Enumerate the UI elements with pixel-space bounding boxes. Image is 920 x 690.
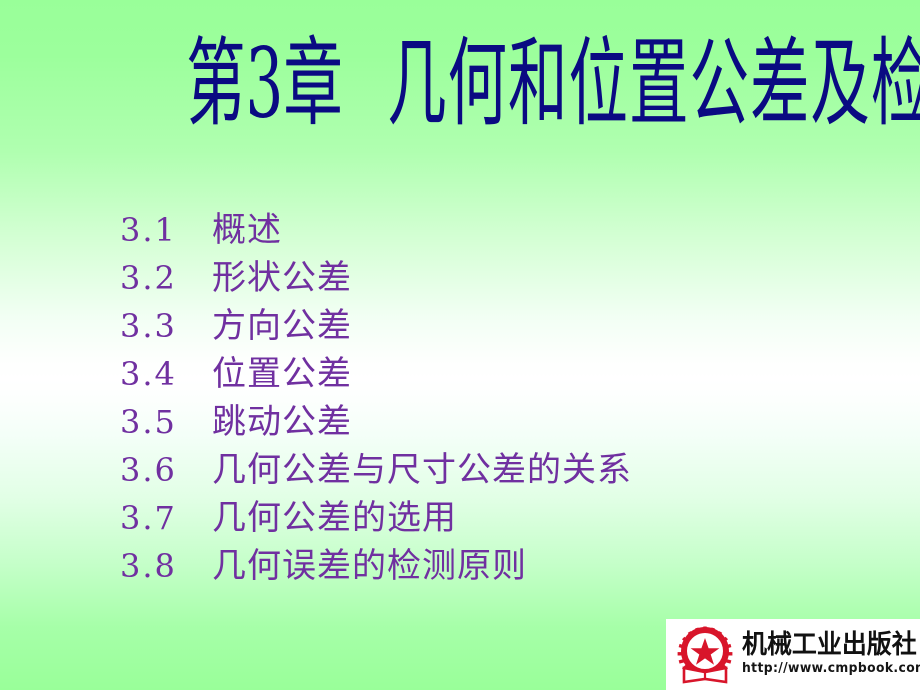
agenda-item-label: 几何误差的检测原则 <box>212 546 527 586</box>
agenda-item-number: 3.6 <box>120 446 212 494</box>
publisher-name: 机械工业出版社 <box>742 631 913 660</box>
agenda-item-number: 3.3 <box>120 302 212 350</box>
agenda-item-3-6[interactable]: 3.6几何公差与尺寸公差的关系 <box>120 446 880 494</box>
agenda-item-label: 形状公差 <box>212 258 352 298</box>
agenda-item-3-5[interactable]: 3.5跳动公差 <box>120 398 880 446</box>
agenda-item-number: 3.2 <box>120 254 212 302</box>
agenda-item-label: 几何公差与尺寸公差的关系 <box>212 450 632 490</box>
agenda-item-3-3[interactable]: 3.3方向公差 <box>120 302 880 350</box>
agenda-item-number: 3.1 <box>120 206 212 254</box>
publisher-text-block: 机械工业出版社 http://www.cmpbook.com <box>742 631 920 678</box>
title-chapter-number: 第3章 <box>186 27 343 140</box>
agenda-item-label: 方向公差 <box>212 306 352 346</box>
agenda-item-3-1[interactable]: 3.1概述 <box>120 206 880 254</box>
agenda-item-label: 概述 <box>212 210 282 250</box>
agenda-item-3-4[interactable]: 3.4位置公差 <box>120 350 880 398</box>
agenda-item-number: 3.5 <box>120 398 212 446</box>
presentation-slide: 第3章几何和位置公差及检测 3.1概述 3.2形状公差 3.3方向公差 3.4位… <box>0 0 920 690</box>
agenda-list: 3.1概述 3.2形状公差 3.3方向公差 3.4位置公差 3.5跳动公差 3.… <box>120 206 880 590</box>
agenda-item-3-2[interactable]: 3.2形状公差 <box>120 254 880 302</box>
agenda-item-number: 3.8 <box>120 542 212 590</box>
agenda-item-number: 3.7 <box>120 494 212 542</box>
agenda-item-3-7[interactable]: 3.7几何公差的选用 <box>120 494 880 542</box>
agenda-item-label: 位置公差 <box>212 354 352 394</box>
agenda-item-number: 3.4 <box>120 350 212 398</box>
agenda-item-label: 跳动公差 <box>212 402 352 442</box>
agenda-item-label: 几何公差的选用 <box>212 498 457 538</box>
publisher-logo: 机械工业出版社 http://www.cmpbook.com <box>666 619 920 690</box>
publisher-url: http://www.cmpbook.com <box>742 660 911 678</box>
title-chapter-name: 几何和位置公差及检测 <box>387 27 920 140</box>
slide-title: 第3章几何和位置公差及检测 <box>186 0 781 171</box>
gear-star-book-icon <box>672 623 738 687</box>
agenda-item-3-8[interactable]: 3.8几何误差的检测原则 <box>120 542 880 590</box>
